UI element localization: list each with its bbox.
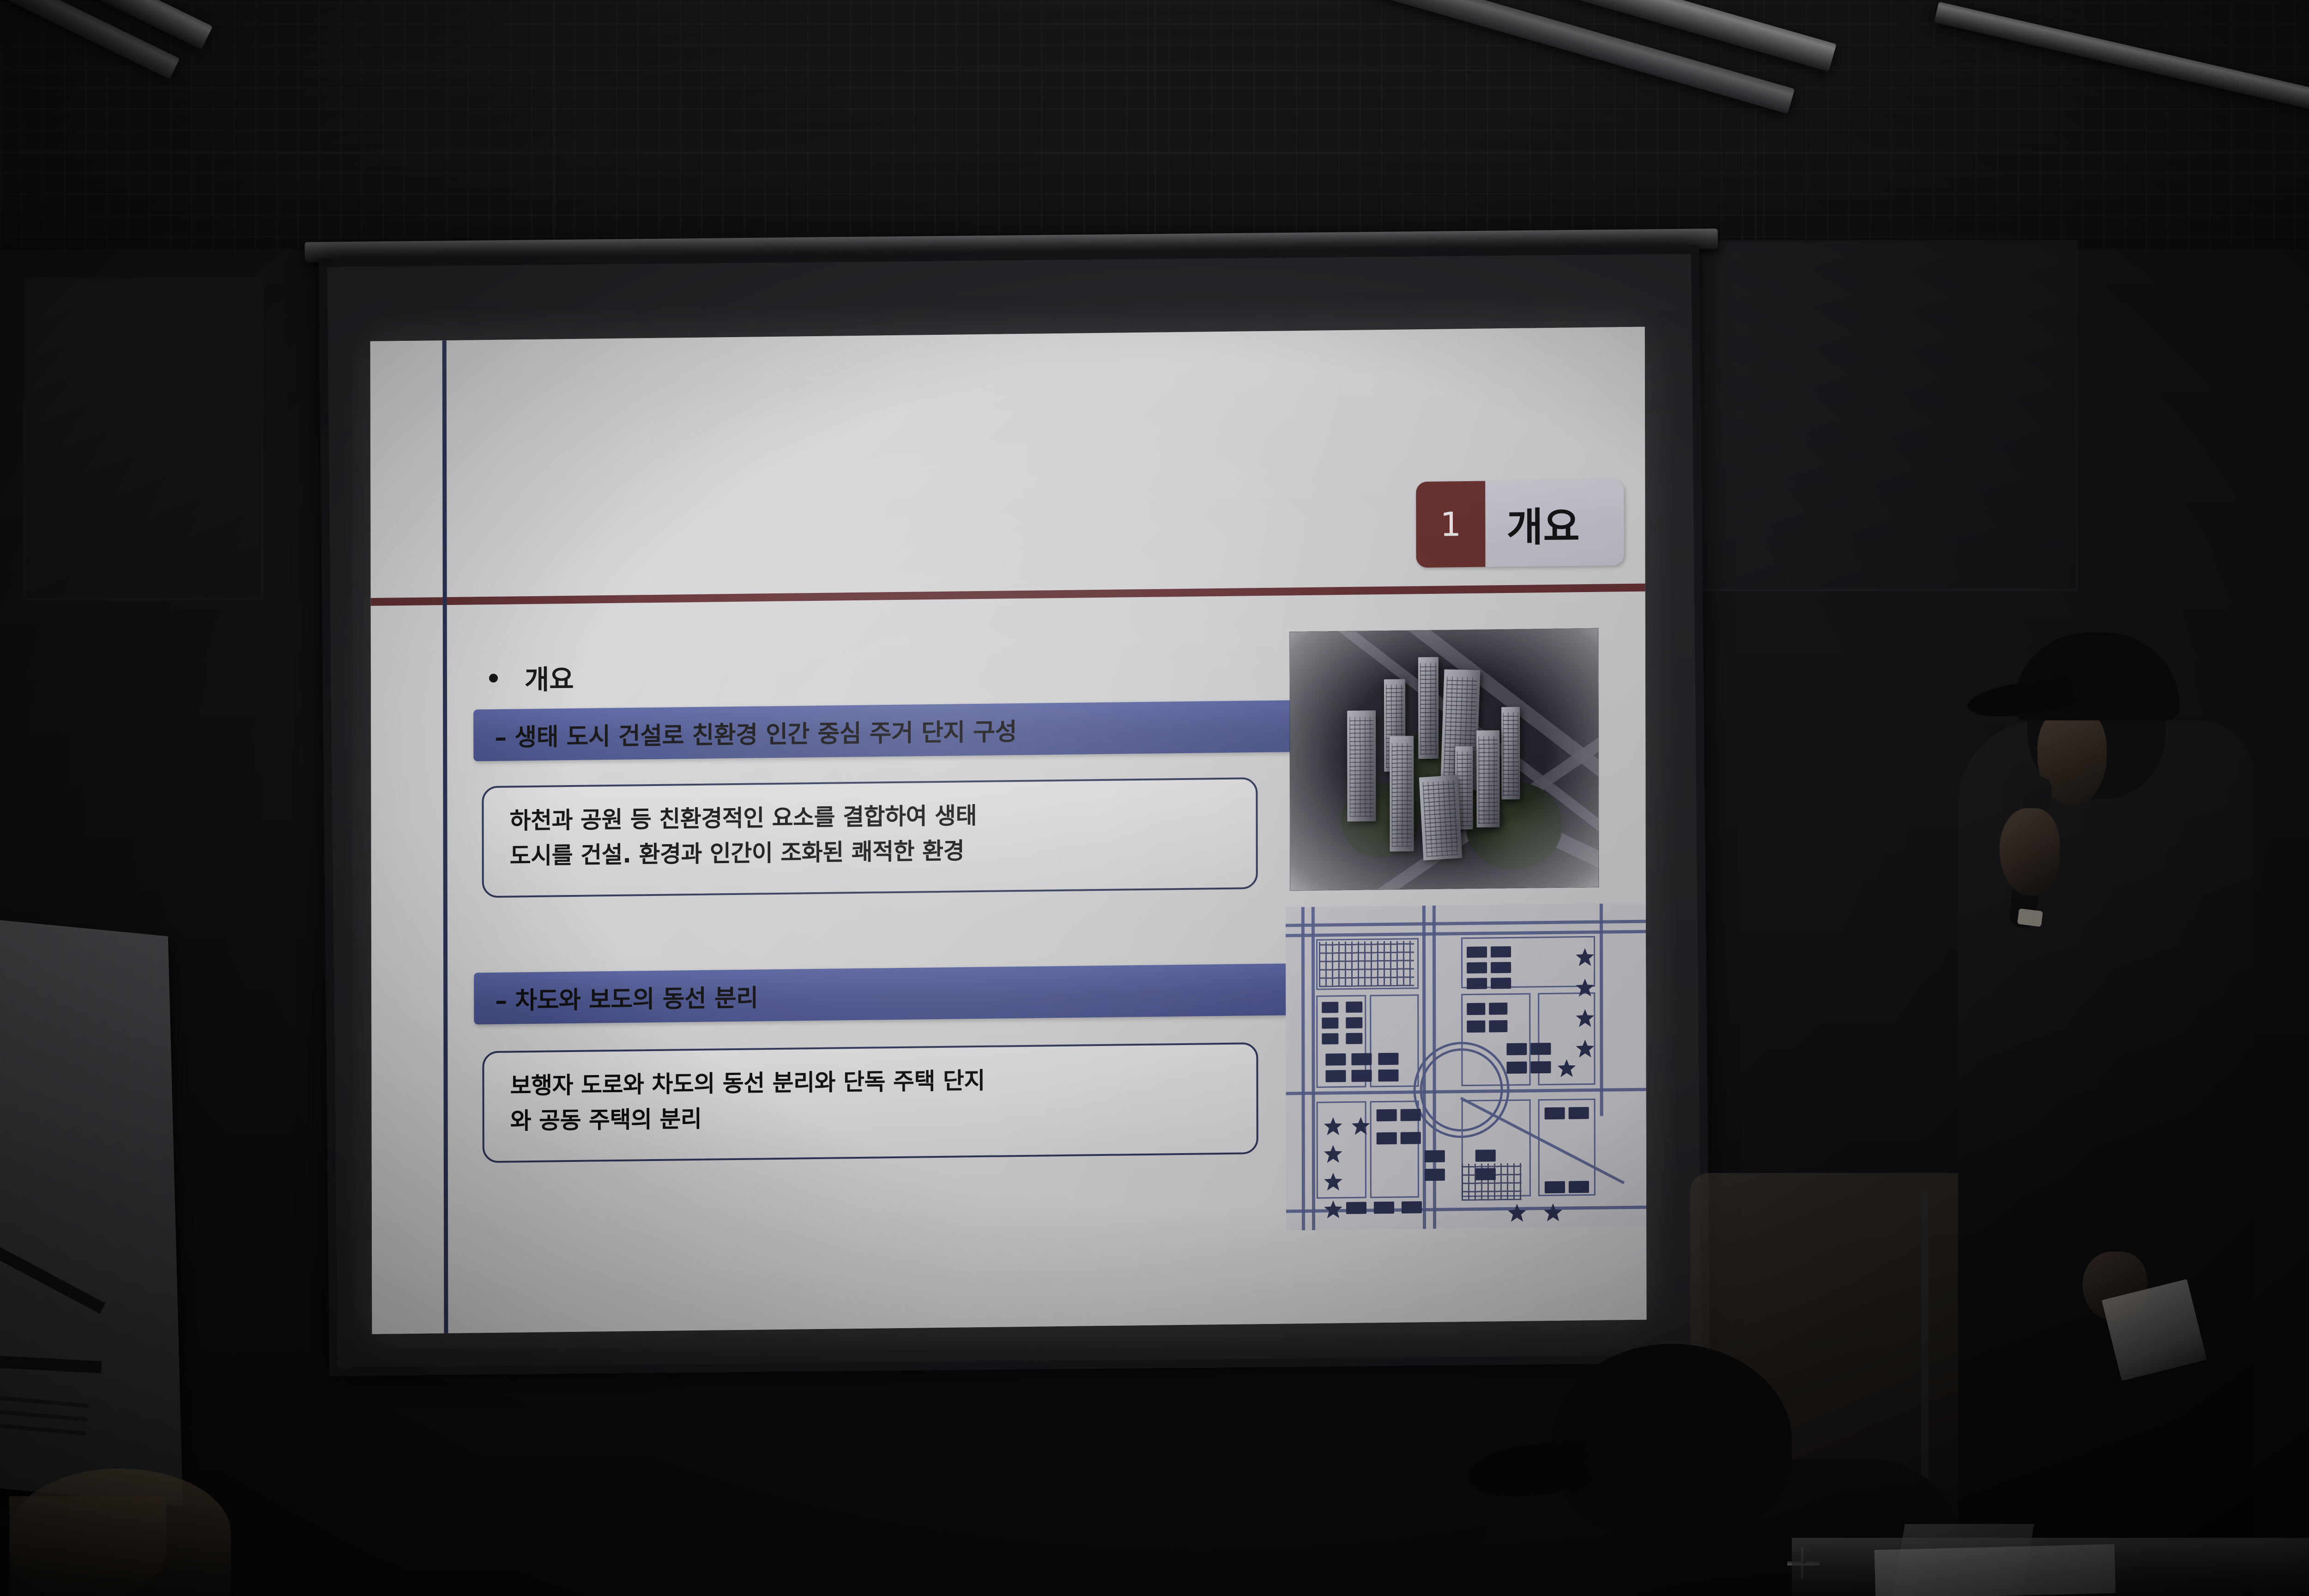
siteplan-building: [1401, 1132, 1421, 1144]
presenter-hand: [2000, 808, 2060, 896]
projection-screen: 1 개요 개요 – 생태 도시 건설로 친환경 인간 중심 주거 단지 구성 하…: [319, 245, 1710, 1376]
siteplan-road: [1286, 920, 1646, 927]
siteplan-building: [1467, 1003, 1485, 1015]
siteplan-building: [1401, 1109, 1421, 1121]
presentation-slide: 1 개요 개요 – 생태 도시 건설로 친환경 인간 중심 주거 단지 구성 하…: [370, 327, 1647, 1334]
section-1-heading-label: – 생태 도시 건설로 친환경 인간 중심 주거 단지 구성: [495, 712, 1017, 753]
siteplan-building: [1569, 1181, 1589, 1193]
siteplan-building: [1346, 1202, 1366, 1214]
siteplan-building: [1506, 1062, 1527, 1074]
siteplan-building: [1351, 1053, 1372, 1065]
siteplan-building: [1467, 947, 1487, 958]
siteplan-building: [1467, 962, 1487, 973]
siteplan-building: [1378, 1053, 1398, 1065]
siteplan-building: [1545, 1181, 1565, 1193]
siteplan-building: [1491, 946, 1511, 957]
slide-header-badge: 1 개요: [1416, 479, 1624, 568]
siteplan-lowrise-district: [1319, 941, 1414, 987]
wooden-stool: [9, 1469, 231, 1596]
urban-master-site-plan-image: [1286, 903, 1647, 1231]
siteplan-building: [1491, 978, 1511, 989]
siteplan-building: [1322, 1002, 1338, 1013]
desk-paper: [1874, 1544, 2116, 1596]
section-2-text-box: 보행자 도로와 차도의 동선 분리와 단독 주택 단지 와 공동 주택의 분리: [482, 1042, 1258, 1163]
siteplan-building: [1377, 1109, 1397, 1121]
microphone-band: [2017, 908, 2043, 927]
siteplan-building: [1346, 1033, 1362, 1044]
siteplan-building: [1402, 1201, 1422, 1213]
siteplan-building: [1530, 1043, 1551, 1055]
siteplan-building: [1506, 1043, 1527, 1055]
siteplan-building: [1351, 1070, 1372, 1082]
slide-section-number: 1: [1416, 481, 1485, 568]
slide-horizontal-accent-rule: [371, 584, 1645, 606]
audience-head: [1552, 1344, 1792, 1538]
room-scene: 1 개요 개요 – 생태 도시 건설로 친환경 인간 중심 주거 단지 구성 하…: [0, 0, 2309, 1596]
siteplan-building: [1489, 1020, 1507, 1032]
bullet-dot-icon: [489, 673, 498, 682]
wall-panel: [1699, 240, 2078, 591]
siteplan-building: [1346, 1017, 1362, 1028]
aerial-vignette: [1290, 629, 1599, 891]
siteplan-building: [1425, 1169, 1445, 1181]
wall-panel: [23, 277, 263, 600]
slide-top-bullet: 개요: [489, 658, 574, 697]
siteplan-block: [1317, 1101, 1366, 1198]
siteplan-building: [1545, 1107, 1565, 1119]
siteplan-road: [1312, 907, 1315, 1230]
section-1-text-box: 하천과 공원 등 친환경적인 요소를 결합하여 생태 도시를 건설. 환경과 인…: [482, 777, 1257, 898]
siteplan-building: [1374, 1202, 1394, 1214]
slide-top-bullet-label: 개요: [525, 658, 574, 697]
siteplan-building: [1322, 1017, 1338, 1028]
siteplan-building: [1325, 1053, 1346, 1065]
aerial-apartment-complex-image: [1290, 629, 1599, 891]
siteplan-building: [1491, 962, 1511, 973]
siteplan-building: [1378, 1070, 1398, 1082]
siteplan-building: [1489, 1003, 1507, 1015]
slide-section-title: 개요: [1485, 479, 1624, 567]
siteplan-building: [1475, 1168, 1496, 1180]
siteplan-building: [1569, 1107, 1589, 1119]
projected-slide-area: 1 개요 개요 – 생태 도시 건설로 친환경 인간 중심 주거 단지 구성 하…: [370, 327, 1647, 1334]
siteplan-building: [1530, 1061, 1551, 1073]
siteplan-road: [1301, 907, 1305, 1230]
siteplan-building: [1425, 1150, 1445, 1162]
acoustic-ceiling: [0, 0, 2309, 259]
ceiling-grid-line: [554, 0, 556, 259]
ceiling-grid-line: [1154, 0, 1156, 259]
siteplan-building: [1377, 1132, 1397, 1144]
section-2-heading-label: – 차도와 보도의 동선 분리: [495, 978, 758, 1016]
siteplan-building: [1467, 1021, 1485, 1033]
slide-vertical-accent-rule: [442, 340, 448, 1333]
siteplan-road: [1600, 904, 1603, 1116]
siteplan-building: [1325, 1070, 1346, 1082]
siteplan-building: [1346, 1002, 1362, 1013]
siteplan-building: [1475, 1149, 1496, 1161]
siteplan-building: [1467, 978, 1487, 989]
siteplan-road: [1286, 1206, 1646, 1213]
siteplan-building: [1322, 1033, 1338, 1044]
